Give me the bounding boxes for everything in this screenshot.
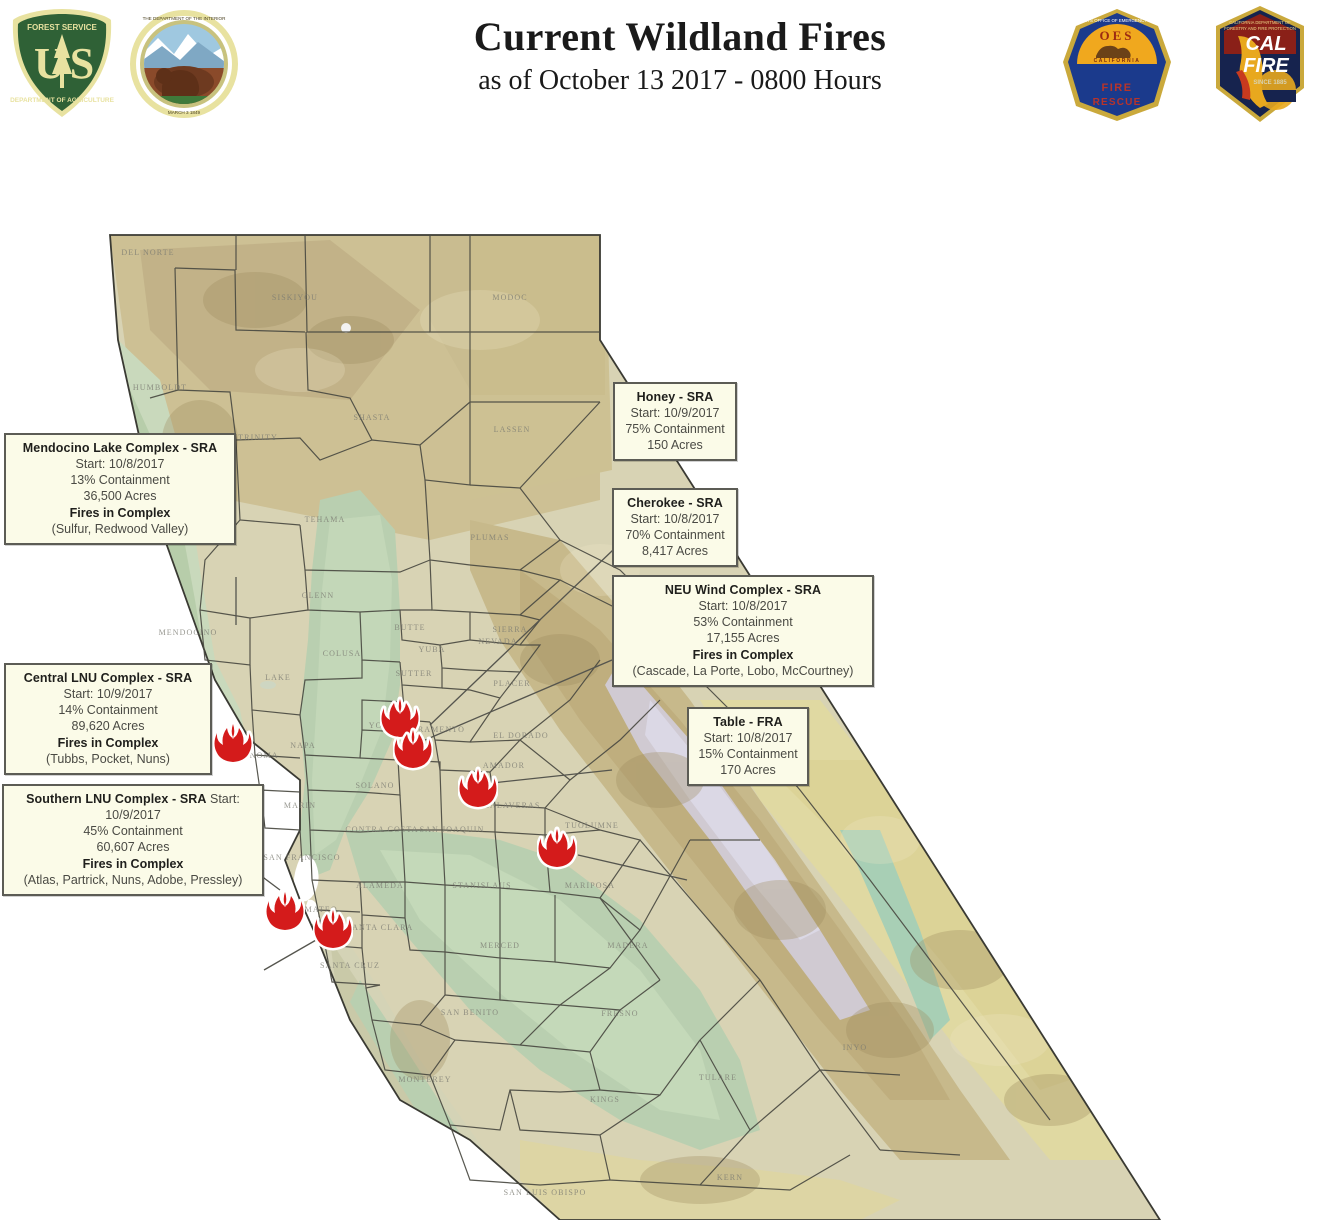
county-label: KINGS <box>590 1095 620 1104</box>
callout-start: Start: 10/8/2017 <box>696 730 800 746</box>
svg-text:GOVERNOR'S OFFICE OF EMERGENCY: GOVERNOR'S OFFICE OF EMERGENCY SERVICES <box>1064 18 1171 23</box>
svg-text:MARCH 3 1849: MARCH 3 1849 <box>168 110 201 115</box>
callout-containment: 70% Containment <box>621 527 729 543</box>
callout-acres: 170 Acres <box>696 762 800 778</box>
county-label: PLUMAS <box>470 533 509 542</box>
callout-mendocino-lake-complex[interactable]: Mendocino Lake Complex - SRA Start: 10/8… <box>4 433 236 545</box>
page-title: Current Wildland Fires <box>330 14 1030 60</box>
page-header: FOREST SERVICE U S DEPARTMENT OF AGRICUL… <box>0 0 1324 140</box>
terrain-layer <box>90 220 1210 1220</box>
callout-complex-label: Fires in Complex <box>621 647 865 663</box>
callout-acres: 36,500 Acres <box>13 488 227 504</box>
county-label: MARIPOSA <box>565 881 615 890</box>
svg-text:OES: OES <box>1099 28 1134 43</box>
county-label: CONTRA COSTA <box>345 825 418 834</box>
county-label: SUTTER <box>396 669 433 678</box>
callout-members: (Tubbs, Pocket, Nuns) <box>13 751 203 767</box>
county-label: STANISLAUS <box>452 881 511 890</box>
county-label: LAKE <box>265 673 291 682</box>
county-label: SIERRA <box>492 625 527 634</box>
svg-text:FOREST SERVICE: FOREST SERVICE <box>27 23 97 32</box>
callout-acres: 17,155 Acres <box>621 630 865 646</box>
callout-southern-lnu-complex[interactable]: Southern LNU Complex - SRA Start: 10/9/2… <box>2 784 264 896</box>
county-label: SANTA CRUZ <box>320 961 380 970</box>
callout-title: Mendocino Lake Complex - SRA <box>13 440 227 456</box>
svg-text:DEPARTMENT OF AGRICULTURE: DEPARTMENT OF AGRICULTURE <box>10 97 115 104</box>
callout-central-lnu-complex[interactable]: Central LNU Complex - SRA Start: 10/9/20… <box>4 663 212 775</box>
county-label: LASSEN <box>494 425 531 434</box>
callout-members: (Atlas, Partrick, Nuns, Adobe, Pressley) <box>11 872 255 888</box>
county-label: MERCED <box>480 941 520 950</box>
callout-acres: 8,417 Acres <box>621 543 729 559</box>
county-label: HUMBOLDT <box>133 383 187 392</box>
county-label: TEHAMA <box>305 515 346 524</box>
county-label: MADERA <box>607 941 648 950</box>
callout-cherokee-fire[interactable]: Cherokee - SRA Start: 10/8/2017 70% Cont… <box>612 488 738 567</box>
county-label: DEL NORTE <box>121 248 174 257</box>
cal-fire-logo: CALIFORNIA DEPARTMENT OF FORESTRY AND FI… <box>1208 4 1312 124</box>
callout-title: Southern LNU Complex - SRA <box>26 792 206 806</box>
callout-start-inline: Start: <box>210 792 240 806</box>
fire-icon-mendocino-lake[interactable] <box>213 720 253 768</box>
county-label: MODOC <box>492 293 527 302</box>
callout-acres: 89,620 Acres <box>13 718 203 734</box>
fire-icon-cherokee[interactable] <box>393 726 433 774</box>
county-label: ALAMEDA <box>356 881 404 890</box>
callout-table-fire[interactable]: Table - FRA Start: 10/8/2017 15% Contain… <box>687 707 809 786</box>
callout-start: Start: 10/9/2017 <box>622 405 728 421</box>
callout-containment: 13% Containment <box>13 472 227 488</box>
callout-complex-label: Fires in Complex <box>11 856 255 872</box>
county-label: SANTA CLARA <box>347 923 414 932</box>
svg-text:FIRE: FIRE <box>1101 82 1132 94</box>
callout-containment: 75% Containment <box>622 421 728 437</box>
county-label: NAPA <box>290 741 315 750</box>
callout-title: Central LNU Complex - SRA <box>13 670 203 686</box>
callout-complex-label: Fires in Complex <box>13 735 203 751</box>
fire-icon-central-lnu[interactable] <box>265 888 305 936</box>
county-label: YUBA <box>418 645 445 654</box>
svg-text:THE DEPARTMENT OF THE INTERIOR: THE DEPARTMENT OF THE INTERIOR <box>143 16 227 21</box>
county-label: SAN LUIS OBISPO <box>504 1188 587 1197</box>
county-label: TULARE <box>699 1073 737 1082</box>
callout-neu-wind-complex[interactable]: NEU Wind Complex - SRA Start: 10/8/2017 … <box>612 575 874 687</box>
callout-containment: 53% Containment <box>621 614 865 630</box>
callout-title-row: Southern LNU Complex - SRA Start: <box>11 791 255 807</box>
county-label: KERN <box>717 1173 743 1182</box>
callout-start: Start: 10/8/2017 <box>13 456 227 472</box>
fire-icon-table[interactable] <box>537 825 577 873</box>
department-of-interior-logo: THE DEPARTMENT OF THE INTERIOR MARCH 3 1… <box>128 8 240 120</box>
callout-title: Table - FRA <box>696 714 800 730</box>
county-label: SAN FRANCISCO <box>263 853 340 862</box>
svg-text:CALIFORNIA: CALIFORNIA <box>1094 58 1141 64</box>
callout-acres: 60,607 Acres <box>11 839 255 855</box>
county-label: SAN JOAQUIN <box>420 825 485 834</box>
svg-text:RESCUE: RESCUE <box>1093 97 1142 108</box>
svg-text:S: S <box>70 39 94 88</box>
county-label: COLUSA <box>323 649 362 658</box>
svg-text:FIRE: FIRE <box>1243 55 1289 77</box>
county-label: TRINITY <box>238 433 278 442</box>
county-label: MONTEREY <box>398 1075 451 1084</box>
callout-containment: 45% Containment <box>11 823 255 839</box>
cal-oes-logo: OES CALIFORNIA GOVERNOR'S OFFICE OF EMER… <box>1058 6 1176 124</box>
county-label: EL DORADO <box>493 731 549 740</box>
callout-start: Start: 10/8/2017 <box>621 598 865 614</box>
callout-containment: 15% Containment <box>696 746 800 762</box>
callout-members: (Cascade, La Porte, Lobo, McCourtney) <box>621 663 865 679</box>
county-label: SISKIYOU <box>272 293 318 302</box>
county-label: NEVADA <box>478 637 517 646</box>
callout-title: Honey - SRA <box>622 389 728 405</box>
us-forest-service-logo: FOREST SERVICE U S DEPARTMENT OF AGRICUL… <box>8 6 116 120</box>
callout-containment: 14% Containment <box>13 702 203 718</box>
county-label: PLACER <box>493 679 530 688</box>
callout-start: 10/9/2017 <box>11 807 255 823</box>
title-block: Current Wildland Fires as of October 13 … <box>330 14 1030 98</box>
wildfire-map-page: { "header": { "title": "Current Wildland… <box>0 0 1324 1220</box>
fire-icon-southern-lnu[interactable] <box>313 906 353 954</box>
callout-start: Start: 10/9/2017 <box>13 686 203 702</box>
svg-text:FORESTRY AND FIRE PROTECTION: FORESTRY AND FIRE PROTECTION <box>1224 26 1296 31</box>
page-subtitle: as of October 13 2017 - 0800 Hours <box>330 64 1030 98</box>
callout-acres: 150 Acres <box>622 437 728 453</box>
county-label: MENDOCINO <box>159 628 218 637</box>
callout-members: (Sulfur, Redwood Valley) <box>13 521 227 537</box>
svg-text:SINCE 1885: SINCE 1885 <box>1253 80 1287 86</box>
county-label: MARIN <box>284 801 316 810</box>
svg-text:CAL: CAL <box>1245 33 1286 55</box>
callout-start: Start: 10/8/2017 <box>621 511 729 527</box>
county-label: SAN BENITO <box>441 1008 499 1017</box>
fire-icon-neu-wind[interactable] <box>458 765 498 813</box>
county-label: BUTTE <box>394 623 425 632</box>
county-label: SHASTA <box>353 413 390 422</box>
callout-title: Cherokee - SRA <box>621 495 729 511</box>
callout-honey-fire[interactable]: Honey - SRA Start: 10/9/2017 75% Contain… <box>613 382 737 461</box>
county-label: SOLANO <box>355 781 394 790</box>
county-label: FRESNO <box>601 1009 638 1018</box>
callout-complex-label: Fires in Complex <box>13 505 227 521</box>
county-label: GLENN <box>302 591 335 600</box>
callout-title: NEU Wind Complex - SRA <box>621 582 865 598</box>
county-label: INYO <box>843 1043 867 1052</box>
svg-text:CALIFORNIA DEPARTMENT OF: CALIFORNIA DEPARTMENT OF <box>1229 20 1291 25</box>
